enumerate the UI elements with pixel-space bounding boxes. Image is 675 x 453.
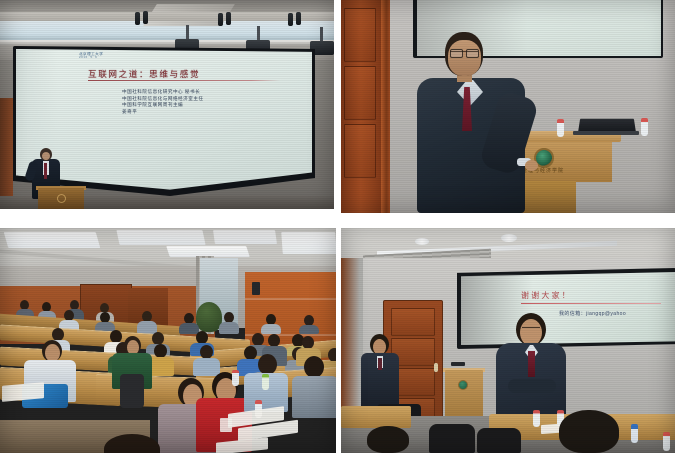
slide-title-underline xyxy=(88,80,280,81)
slide-header: 北京理工大学 2016. 5. 6 xyxy=(79,52,159,60)
foreground-head xyxy=(559,410,619,453)
wall-speaker-icon xyxy=(252,282,260,295)
water-bottle-icon xyxy=(663,432,670,451)
ceiling-light-panel xyxy=(213,230,277,244)
audience-member-right-front xyxy=(292,356,336,418)
photo-bottom-left-audience xyxy=(0,228,336,453)
chair-back xyxy=(120,374,144,408)
slide-body-line: 姜奇平 xyxy=(122,109,302,116)
door-frame xyxy=(381,0,390,213)
ceiling-light-icon xyxy=(501,234,517,242)
ceiling-speaker-icon xyxy=(135,12,140,25)
water-bottle-icon xyxy=(631,424,638,443)
side-table xyxy=(341,406,411,428)
wall-seam xyxy=(245,298,336,300)
foreground-head xyxy=(104,434,160,453)
university-emblem-icon xyxy=(458,380,468,390)
slide-body-line: 中国科学院互联网周刊主编 xyxy=(122,102,302,109)
slide-date-line: 2016. 5. 6 xyxy=(79,56,159,59)
ceiling-speaker-icon xyxy=(143,11,148,24)
side-door xyxy=(0,98,13,209)
photo-bottom-right-closing-slide: 谢谢大家！ 我的信箱：jiangqp@yahoo xyxy=(341,228,675,453)
closing-slide-underline xyxy=(521,303,661,304)
photo-top-right-speaker-at-podium: 管理与经济学院 xyxy=(341,0,675,213)
ceiling-light-icon xyxy=(415,238,429,245)
water-bottle-icon xyxy=(641,118,648,136)
door-panel xyxy=(344,8,376,62)
chair-back xyxy=(477,428,521,453)
chair-back xyxy=(429,424,475,453)
left-wall-edge xyxy=(341,258,363,418)
lectern-emblem-icon xyxy=(57,194,66,203)
ceiling-light-panel xyxy=(4,232,101,248)
ceiling-speaker-icon xyxy=(296,12,301,25)
door-panel xyxy=(344,124,376,178)
slide-body-line: 中国社科院信息化研究中心 秘书长 xyxy=(122,89,302,96)
door-panel xyxy=(344,66,376,120)
foreground-head xyxy=(367,426,409,453)
ceiling-beam xyxy=(0,12,334,21)
water-bottle-icon xyxy=(557,119,564,137)
slide-title: 互联网之道：思维与感觉 xyxy=(88,68,278,80)
photo-top-left-title-slide: 北京理工大学 2016. 5. 6 互联网之道：思维与感觉 中国社科院信息化研究… xyxy=(0,0,334,209)
wooden-door xyxy=(341,0,385,213)
ceiling-light-panel xyxy=(281,232,336,254)
green-bottle-icon xyxy=(262,374,269,390)
slide-body: 中国社科院信息化研究中心 秘书长 中国社科院信息化与网络经济室主任 中国科学院互… xyxy=(122,89,302,116)
speaker-figure xyxy=(417,32,537,213)
ceiling-speaker-icon xyxy=(288,13,293,26)
door-handle-icon xyxy=(434,363,438,372)
ceiling-speaker-icon xyxy=(226,12,231,25)
ceiling-light-panel xyxy=(116,230,205,245)
closing-slide-contact: 我的信箱：jiangqp@yahoo xyxy=(559,310,626,317)
laptop-base xyxy=(573,131,639,135)
closing-slide-title: 谢谢大家！ xyxy=(521,290,572,301)
water-bottle-icon xyxy=(232,370,239,386)
water-bottle-icon xyxy=(533,410,540,427)
microphone-icon xyxy=(451,362,465,366)
photo-collage: 北京理工大学 2016. 5. 6 互联网之道：思维与感觉 中国社科院信息化研究… xyxy=(0,0,675,453)
ceiling-speaker-icon xyxy=(218,13,223,26)
door-panel xyxy=(391,308,435,336)
